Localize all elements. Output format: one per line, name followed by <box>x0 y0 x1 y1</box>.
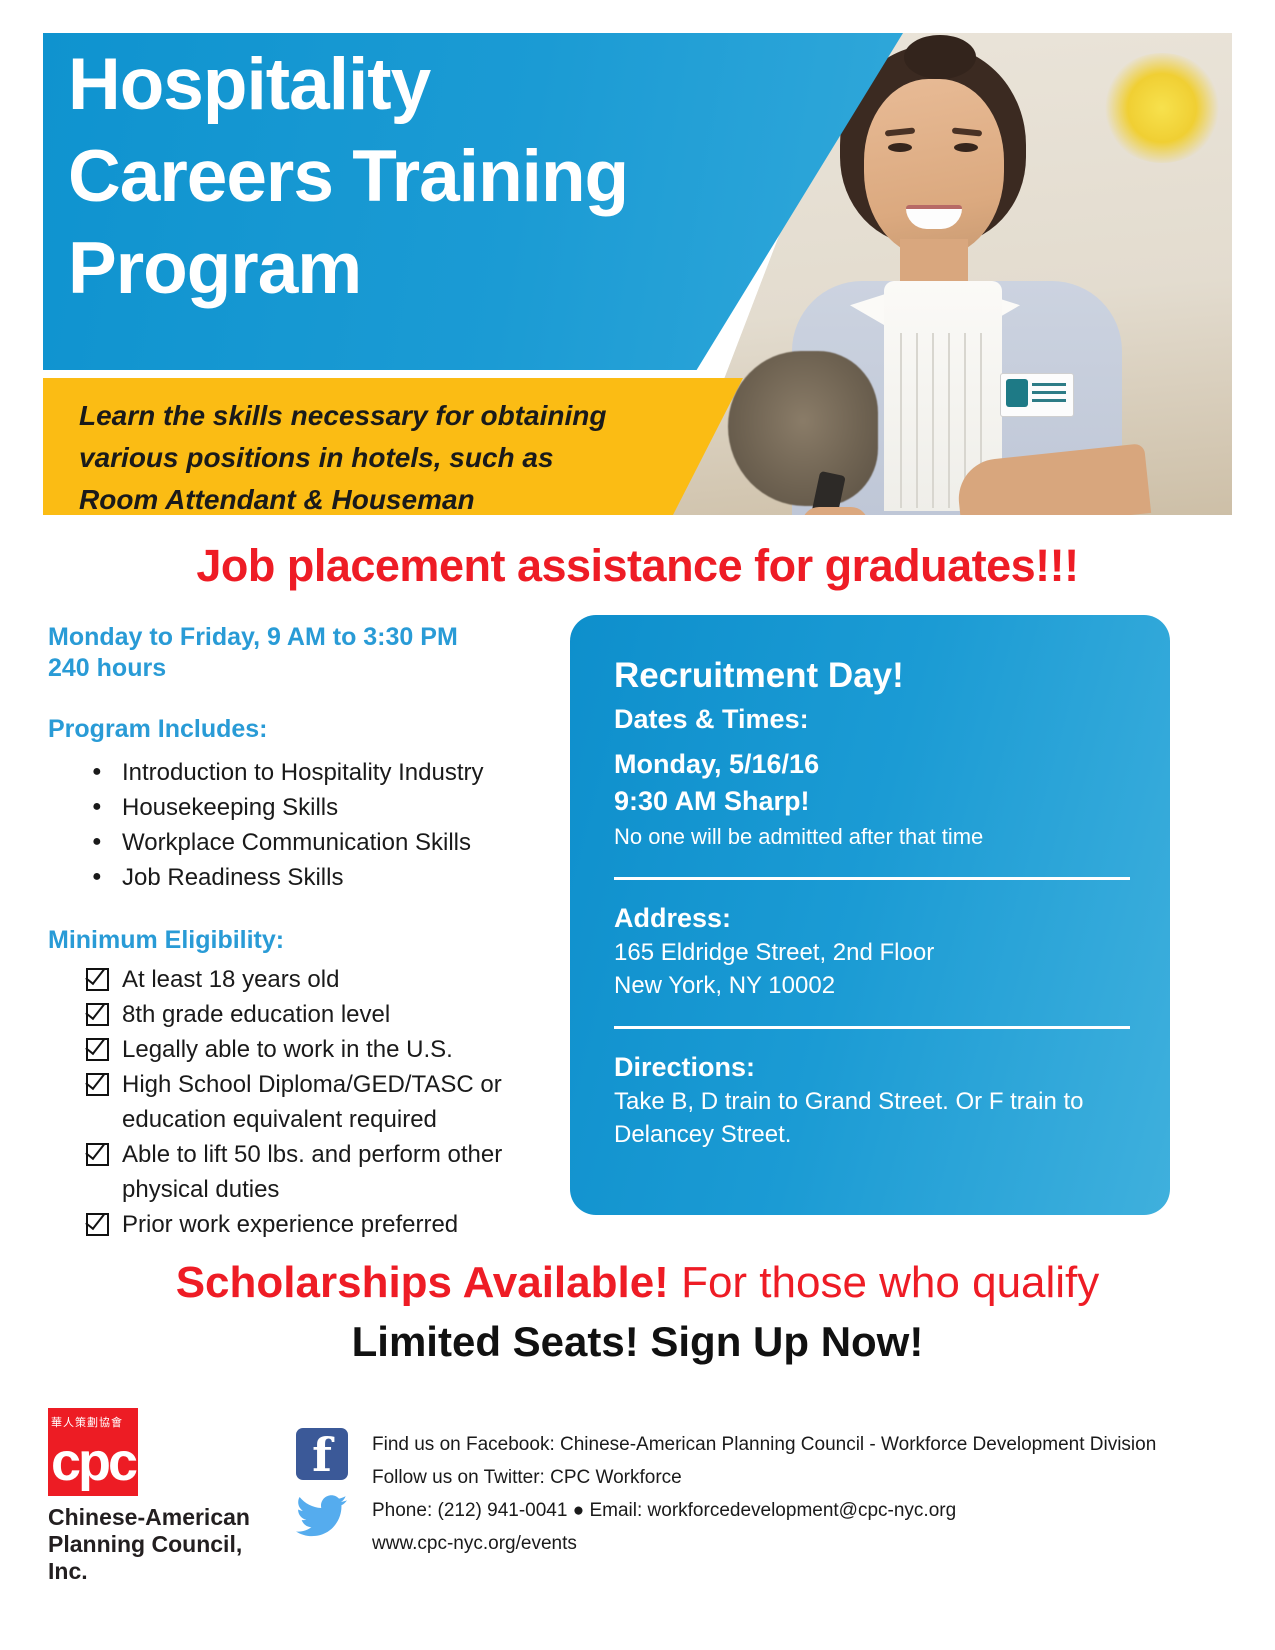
program-includes-heading: Program Includes: <box>48 714 553 745</box>
address-line-2: New York, NY 10002 <box>614 969 1130 1002</box>
badge-text-line <box>1032 383 1066 386</box>
subtitle-line-2: various positions in hotels, such as <box>79 437 719 479</box>
job-placement-headline: Job placement assistance for graduates!!… <box>0 540 1275 592</box>
list-item: High School Diploma/GED/TASC or educatio… <box>48 1067 553 1137</box>
uniform-pleat <box>932 333 934 508</box>
spacer <box>48 895 553 925</box>
list-item: Able to lift 50 lbs. and perform other p… <box>48 1137 553 1207</box>
recruitment-day-box: Recruitment Day! Dates & Times: Monday, … <box>570 615 1170 1215</box>
cpc-logo-mark: 華人策劃協會 cpc <box>48 1408 138 1496</box>
title-line-2: Careers Training <box>68 131 768 223</box>
list-item: 8th grade education level <box>48 997 553 1032</box>
hero-banner: Hospitality Careers Training Program Lea… <box>43 33 1232 515</box>
cpc-name-line-1: Chinese-American <box>48 1504 278 1531</box>
directions-label: Directions: <box>614 1049 1130 1085</box>
title-line-1: Hospitality <box>68 39 768 131</box>
directions-line-2: Delancey Street. <box>614 1118 1130 1151</box>
address-label: Address: <box>614 900 1130 936</box>
cpc-logo: 華人策劃協會 cpc Chinese-American Planning Cou… <box>48 1408 278 1585</box>
feather-duster-icon <box>728 351 878 506</box>
person-hand <box>802 507 868 515</box>
list-item: At least 18 years old <box>48 962 553 997</box>
list-item: Legally able to work in the U.S. <box>48 1032 553 1067</box>
scholarship-light: For those who qualify <box>669 1258 1099 1307</box>
checkbox-checked-icon <box>86 968 109 991</box>
program-includes-list: Introduction to Hospitality Industry Hou… <box>48 755 553 895</box>
subtitle-line-1: Learn the skills necessary for obtaining <box>79 395 719 437</box>
cpc-org-name: Chinese-American Planning Council, Inc. <box>48 1504 278 1585</box>
list-item: Introduction to Hospitality Industry <box>48 755 553 790</box>
list-item-label: Able to lift 50 lbs. and perform other p… <box>122 1141 502 1203</box>
checkbox-checked-icon <box>86 1038 109 1061</box>
divider <box>614 1026 1130 1029</box>
badge-text-line <box>1032 391 1066 394</box>
website-text[interactable]: www.cpc-nyc.org/events <box>372 1527 1232 1560</box>
schedule-line-2: 240 hours <box>48 653 553 684</box>
person-face <box>864 79 1004 257</box>
flyer-title: Hospitality Careers Training Program <box>68 39 768 315</box>
recruitment-time: 9:30 AM Sharp! <box>614 783 1130 820</box>
social-icons <box>296 1428 348 1538</box>
list-item: Job Readiness Skills <box>48 860 553 895</box>
eligibility-list: At least 18 years old 8th grade educatio… <box>48 962 553 1242</box>
list-item: Prior work experience preferred <box>48 1207 553 1242</box>
person-eye-right <box>954 143 978 152</box>
flower-decor <box>1102 53 1222 163</box>
scholarship-bold: Scholarships Available! <box>176 1258 669 1307</box>
cpc-name-line-2: Planning Council, Inc. <box>48 1531 278 1585</box>
checkbox-checked-icon <box>86 1143 109 1166</box>
list-item-label: High School Diploma/GED/TASC or educatio… <box>122 1071 502 1133</box>
list-item: Housekeeping Skills <box>48 790 553 825</box>
title-line-3: Program <box>68 223 768 315</box>
twitter-icon[interactable] <box>296 1494 348 1538</box>
dates-times-label: Dates & Times: <box>614 701 1130 738</box>
flyer-subtitle: Learn the skills necessary for obtaining… <box>79 395 719 521</box>
checkbox-checked-icon <box>86 1003 109 1026</box>
divider <box>614 877 1130 880</box>
list-item-label: 8th grade education level <box>122 1001 390 1028</box>
person-hair-bun <box>904 35 976 79</box>
badge-logo-icon <box>1006 379 1028 407</box>
cpc-letters: cpc <box>48 1434 138 1496</box>
schedule-block: Monday to Friday, 9 AM to 3:30 PM 240 ho… <box>48 622 553 684</box>
flyer-page: Hospitality Careers Training Program Lea… <box>0 0 1275 1650</box>
twitter-text: Follow us on Twitter: CPC Workforce <box>372 1461 1232 1494</box>
facebook-text: Find us on Facebook: Chinese-American Pl… <box>372 1428 1232 1461</box>
uniform-pleat <box>916 333 918 508</box>
contact-info: Find us on Facebook: Chinese-American Pl… <box>372 1428 1232 1560</box>
schedule-line-1: Monday to Friday, 9 AM to 3:30 PM <box>48 622 553 653</box>
list-item-label: Prior work experience preferred <box>122 1211 458 1238</box>
scholarship-line: Scholarships Available! For those who qu… <box>0 1255 1275 1311</box>
spacer <box>48 684 553 714</box>
address-line-1: 165 Eldridge Street, 2nd Floor <box>614 936 1130 969</box>
spacer <box>614 738 1130 746</box>
badge-text-line <box>1032 399 1066 402</box>
uniform-pleat <box>948 333 950 508</box>
directions-line-1: Take B, D train to Grand Street. Or F tr… <box>614 1085 1130 1118</box>
subtitle-line-3: Room Attendant & Houseman <box>79 479 719 521</box>
uniform-pleat <box>900 333 902 508</box>
checkbox-checked-icon <box>86 1073 109 1096</box>
checkbox-checked-icon <box>86 1213 109 1236</box>
program-details-column: Monday to Friday, 9 AM to 3:30 PM 240 ho… <box>48 622 553 1242</box>
recruitment-note: No one will be admitted after that time <box>614 820 1130 853</box>
recruitment-title: Recruitment Day! <box>614 653 1130 699</box>
phone-email-text: Phone: (212) 941-0041 ● Email: workforce… <box>372 1494 1232 1527</box>
person-eye-left <box>888 143 912 152</box>
eligibility-heading: Minimum Eligibility: <box>48 925 553 956</box>
list-item-label: At least 18 years old <box>122 966 339 993</box>
list-item-label: Legally able to work in the U.S. <box>122 1036 453 1063</box>
recruitment-content: Recruitment Day! Dates & Times: Monday, … <box>570 615 1170 1151</box>
limited-seats-line: Limited Seats! Sign Up Now! <box>0 1315 1275 1369</box>
cpc-chinese-name: 華人策劃協會 <box>51 1414 135 1430</box>
list-item: Workplace Communication Skills <box>48 825 553 860</box>
facebook-icon[interactable] <box>296 1428 348 1480</box>
recruitment-date: Monday, 5/16/16 <box>614 746 1130 783</box>
